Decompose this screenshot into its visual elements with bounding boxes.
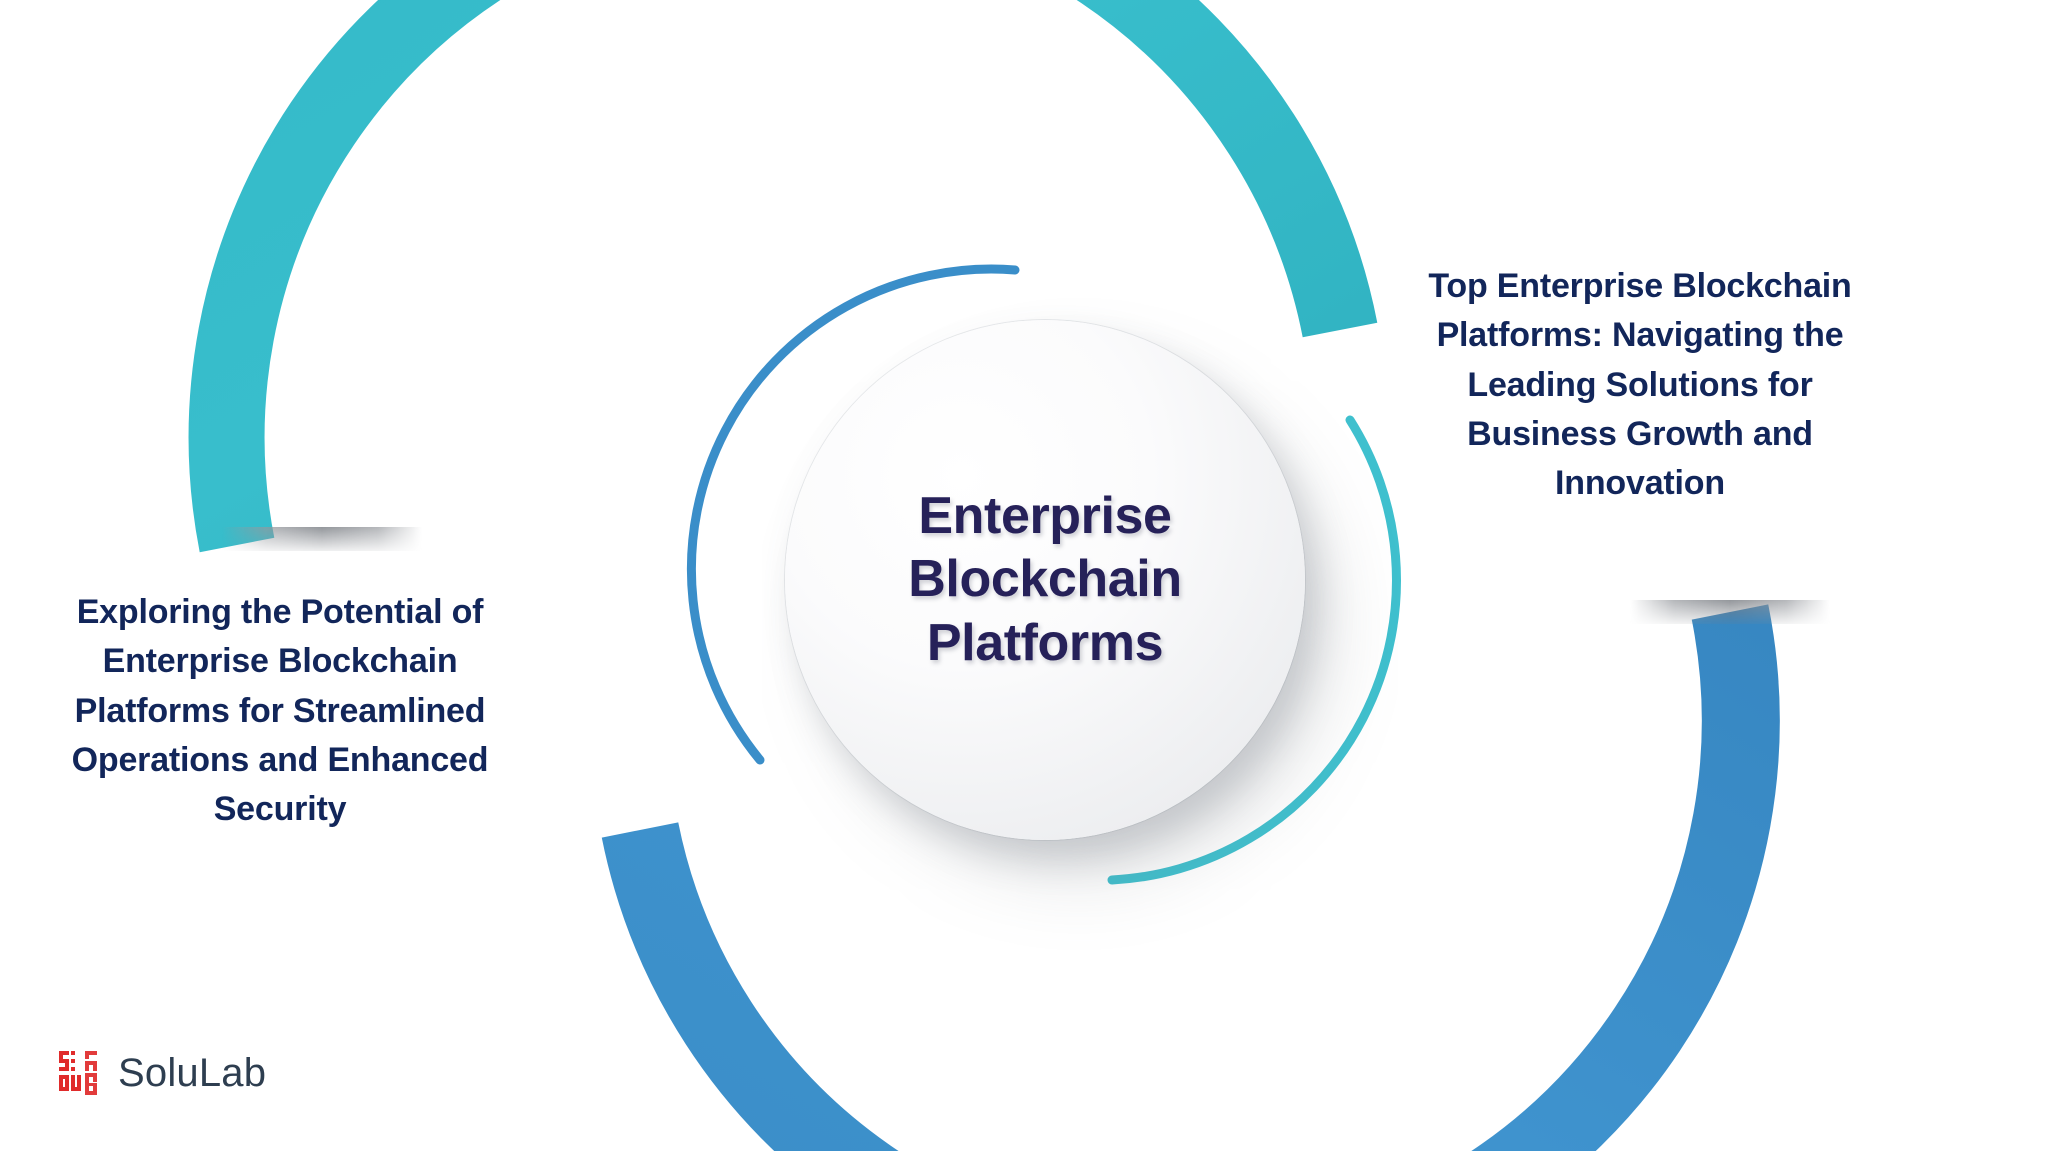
- solulab-pixel-mark-icon: [58, 1050, 104, 1096]
- right-caption-line-3: Leading Solutions for: [1390, 361, 1890, 410]
- right-caption-line-5: Innovation: [1390, 459, 1890, 508]
- right-caption: Top Enterprise Blockchain Platforms: Nav…: [1390, 262, 1890, 508]
- solulab-wordmark: SoluLab: [118, 1053, 266, 1093]
- right-caption-line-1: Top Enterprise Blockchain: [1390, 262, 1890, 311]
- teal-arc-tip-shadow: [222, 527, 422, 551]
- left-caption-line-3: Platforms for Streamlined: [30, 687, 530, 736]
- center-title-line-2: Blockchain: [908, 548, 1181, 611]
- center-title-line-1: Enterprise: [908, 485, 1181, 548]
- left-caption-line-4: Operations and Enhanced: [30, 736, 530, 785]
- left-caption-line-2: Enterprise Blockchain: [30, 637, 530, 686]
- infographic-canvas: Enterprise Blockchain Platforms Explorin…: [0, 0, 2048, 1151]
- right-caption-line-2: Platforms: Navigating the: [1390, 311, 1890, 360]
- blue-arc-tip-shadow: [1630, 600, 1830, 624]
- left-caption-line-1: Exploring the Potential of: [30, 588, 530, 637]
- center-circle: Enterprise Blockchain Platforms: [785, 320, 1305, 840]
- solulab-logo[interactable]: SoluLab: [58, 1050, 266, 1096]
- center-title-line-3: Platforms: [908, 612, 1181, 675]
- right-caption-line-4: Business Growth and: [1390, 410, 1890, 459]
- left-caption: Exploring the Potential of Enterprise Bl…: [30, 588, 530, 834]
- left-caption-line-5: Security: [30, 785, 530, 834]
- center-circle-title: Enterprise Blockchain Platforms: [908, 485, 1181, 675]
